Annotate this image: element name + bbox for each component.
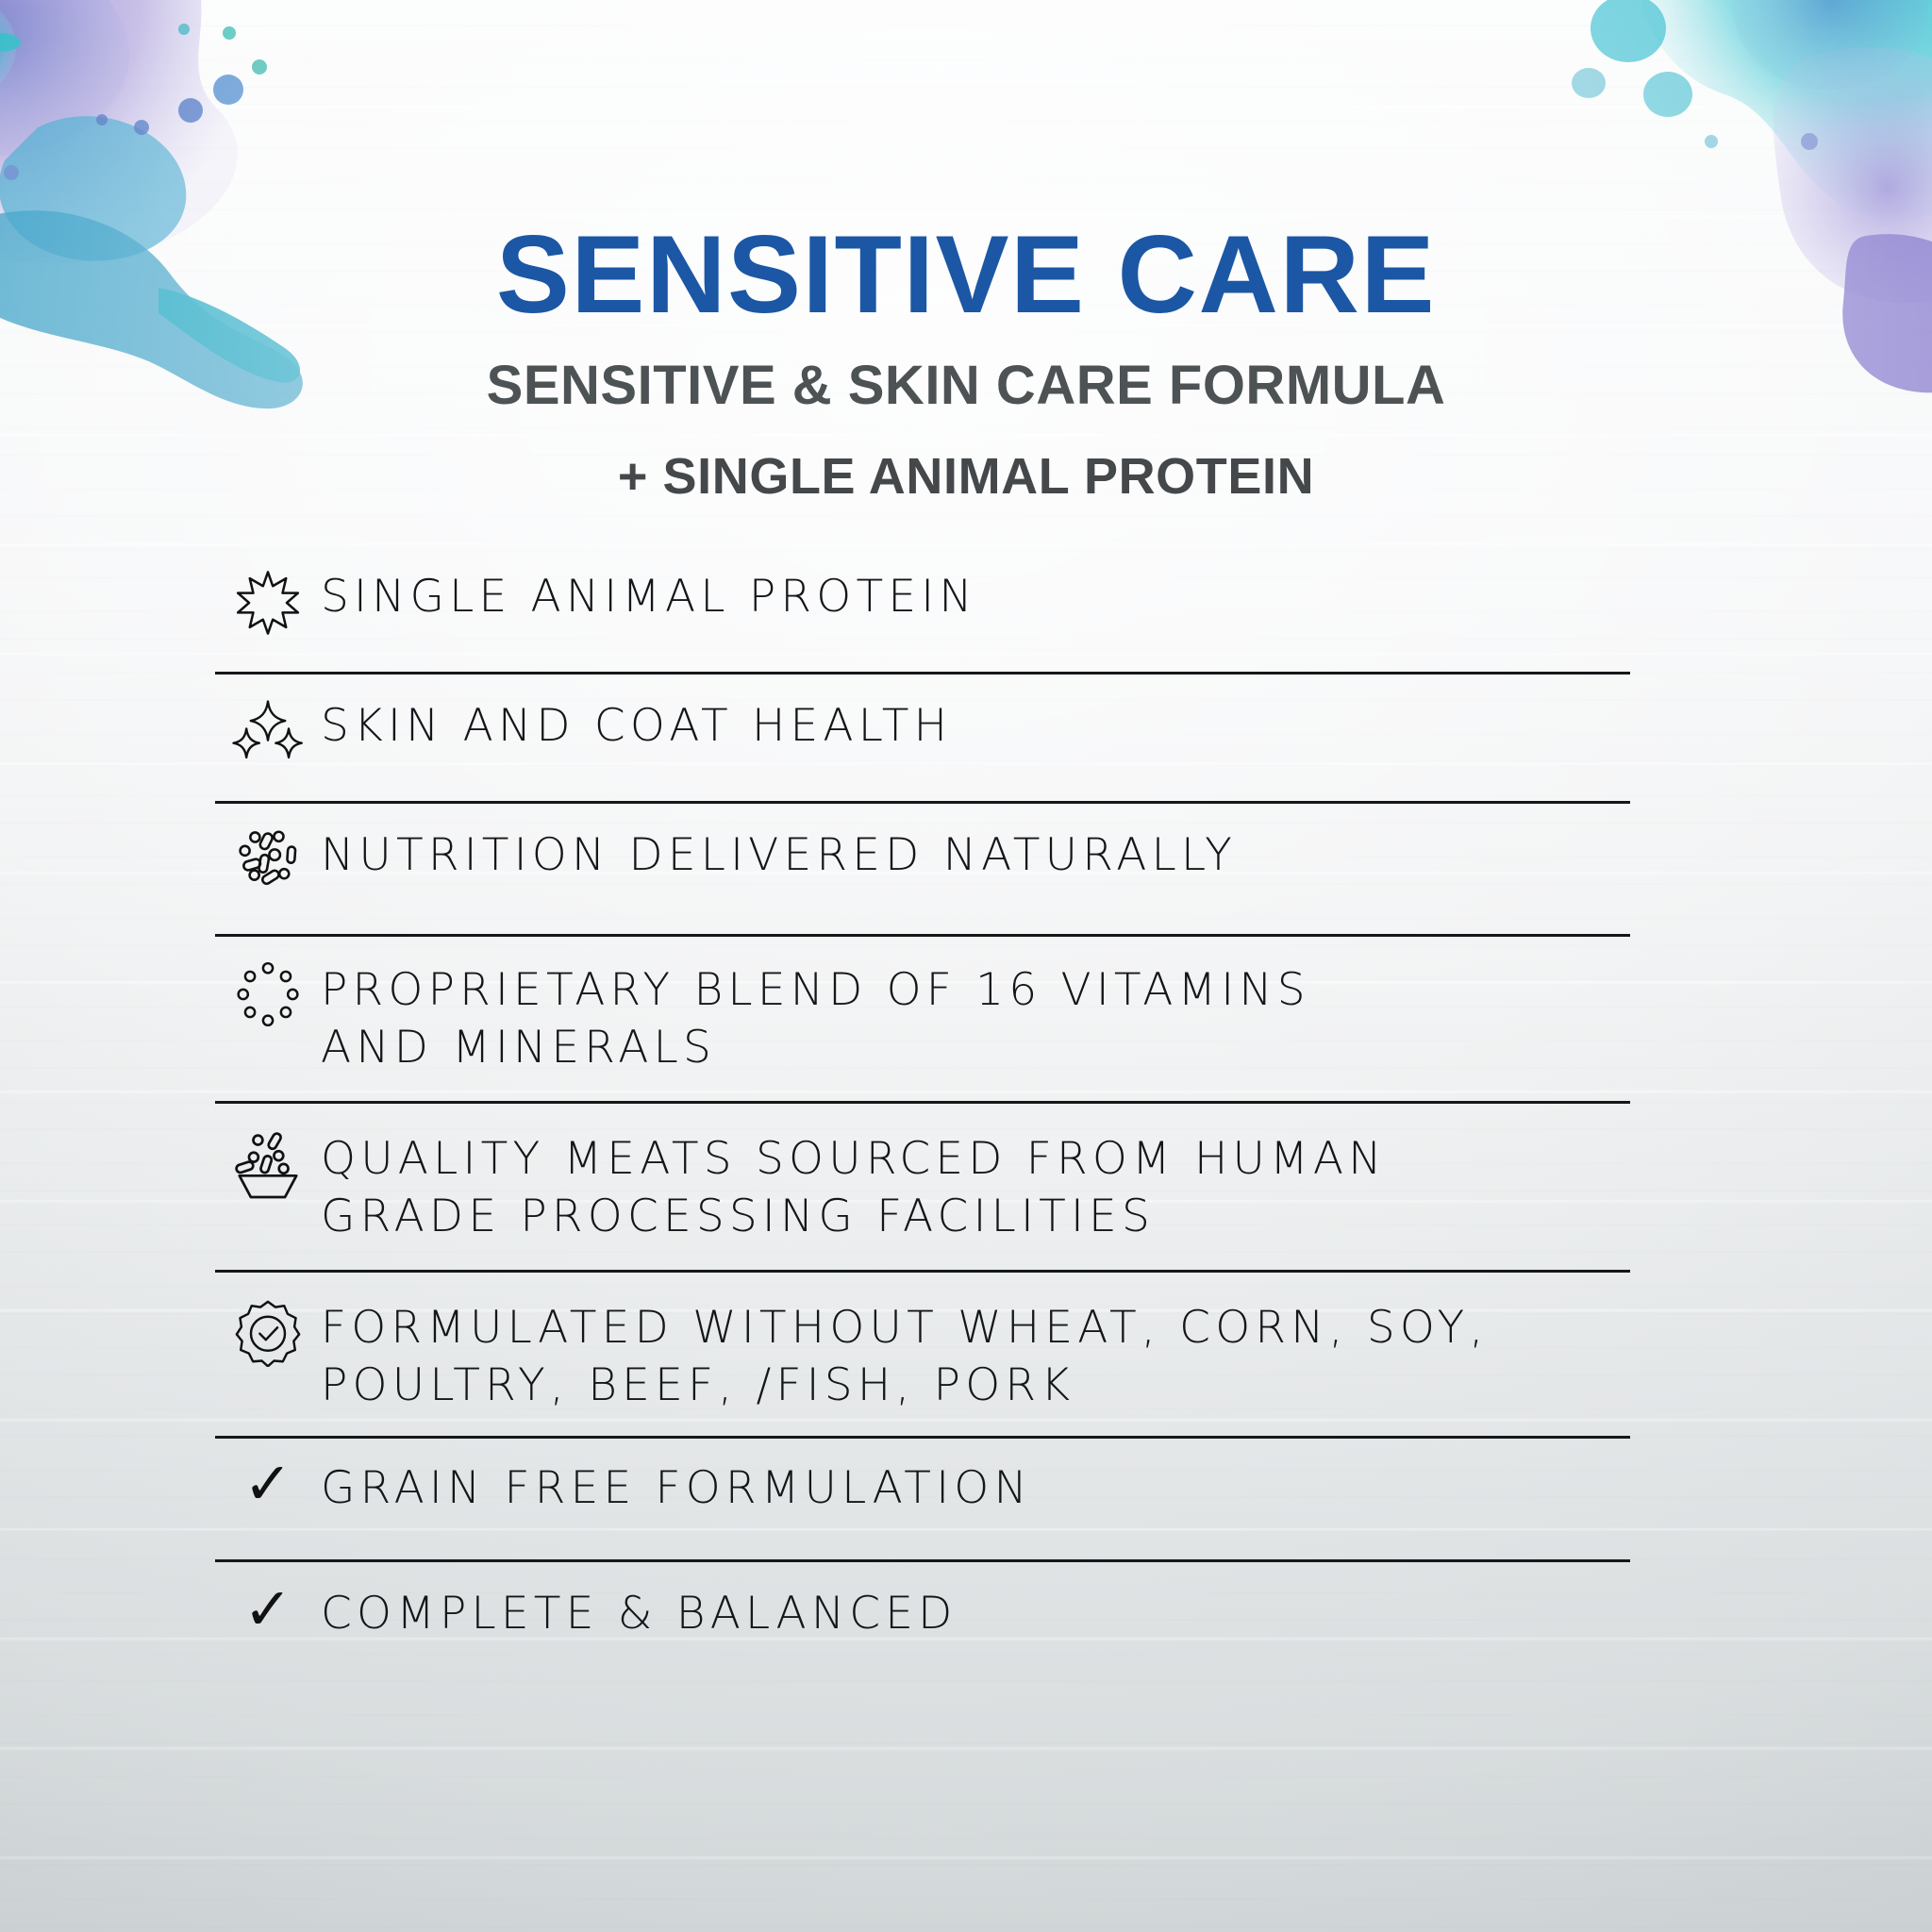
page-title: SENSITIVE CARE <box>0 219 1932 329</box>
feature-row: PROPRIETARY BLEND OF 16 VITAMINS AND MIN… <box>215 937 1630 1104</box>
feature-row: QUALITY MEATS SOURCED FROM HUMAN GRADE P… <box>215 1104 1630 1273</box>
product-feature-panel: SENSITIVE CARE SENSITIVE & SKIN CARE FOR… <box>0 0 1932 1932</box>
checkmark-icon: ✓ <box>215 1457 321 1531</box>
feature-row: ✓ COMPLETE & BALANCED <box>215 1562 1630 1683</box>
feature-label: PROPRIETARY BLEND OF 16 VITAMINS AND MIN… <box>321 959 1630 1076</box>
sparkles-icon <box>215 695 321 771</box>
starburst-icon <box>215 566 321 641</box>
feature-row: SKIN AND COAT HEALTH <box>215 675 1630 804</box>
kibble-scatter-icon <box>215 824 321 900</box>
subtitle-primary: SENSITIVE & SKIN CARE FORMULA <box>0 358 1932 413</box>
food-bowl-icon <box>215 1128 321 1204</box>
feature-row: FORMULATED WITHOUT WHEAT, CORN, SOY, POU… <box>215 1273 1630 1438</box>
feature-label: SKIN AND COAT HEALTH <box>321 695 1630 755</box>
feature-label: GRAIN FREE FORMULATION <box>321 1457 1630 1517</box>
feature-row: SINGLE ANIMAL PROTEIN <box>215 562 1630 675</box>
feature-label: NUTRITION DELIVERED NATURALLY <box>321 824 1630 884</box>
checkmark-icon: ✓ <box>215 1583 321 1657</box>
feature-list: SINGLE ANIMAL PROTEIN SKIN AND COAT HEAL… <box>215 562 1630 1683</box>
feature-row: NUTRITION DELIVERED NATURALLY <box>215 804 1630 937</box>
feature-label: COMPLETE & BALANCED <box>321 1583 1630 1642</box>
feature-label: SINGLE ANIMAL PROTEIN <box>321 566 1630 625</box>
feature-label: QUALITY MEATS SOURCED FROM HUMAN GRADE P… <box>321 1128 1630 1245</box>
badge-check-icon <box>215 1297 321 1373</box>
feature-label: FORMULATED WITHOUT WHEAT, CORN, SOY, POU… <box>321 1297 1630 1414</box>
feature-row: ✓ GRAIN FREE FORMULATION <box>215 1439 1630 1562</box>
subtitle-secondary: + SINGLE ANIMAL PROTEIN <box>0 451 1932 502</box>
vitamin-dots-circle-icon <box>215 959 321 1035</box>
